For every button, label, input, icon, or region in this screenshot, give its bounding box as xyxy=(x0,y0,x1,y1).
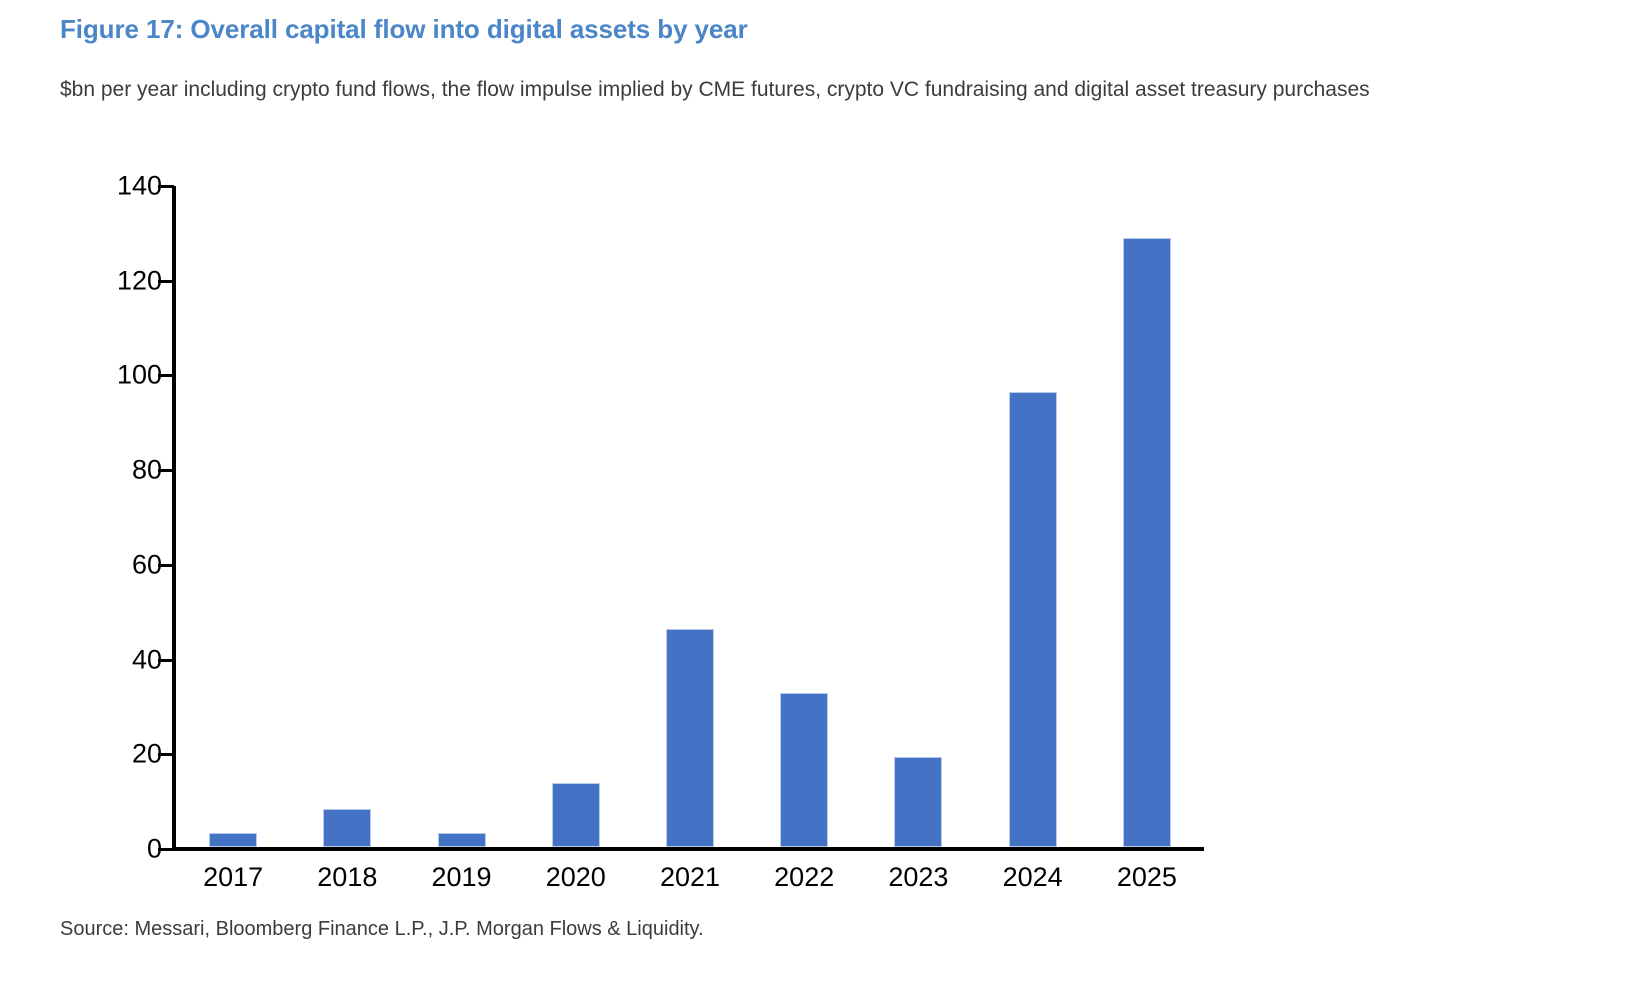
bar-chart: 020406080100120140 201720182019202020212… xyxy=(0,0,1644,994)
bar-slot xyxy=(519,186,633,847)
x-axis-labels: 201720182019202020212022202320242025 xyxy=(176,862,1204,893)
bar-slot xyxy=(404,186,518,847)
bar-slot xyxy=(290,186,404,847)
bar-2017[interactable] xyxy=(209,833,257,847)
bar-slot xyxy=(747,186,861,847)
bar-2018[interactable] xyxy=(323,809,371,847)
x-axis-label-2017: 2017 xyxy=(176,862,290,893)
bar-slot xyxy=(176,186,290,847)
y-axis-tick-label: 0 xyxy=(72,836,162,863)
y-axis-tick-label: 60 xyxy=(72,551,162,578)
x-axis-label-2022: 2022 xyxy=(747,862,861,893)
bar-series xyxy=(176,186,1204,847)
y-axis-tick-label: 140 xyxy=(72,173,162,200)
bar-slot xyxy=(633,186,747,847)
bar-2021[interactable] xyxy=(666,629,714,847)
y-axis-tick-label: 80 xyxy=(72,457,162,484)
figure-page: Figure 17: Overall capital flow into dig… xyxy=(0,0,1644,994)
x-axis-label-2024: 2024 xyxy=(976,862,1090,893)
x-axis-label-2021: 2021 xyxy=(633,862,747,893)
source-note: Source: Messari, Bloomberg Finance L.P.,… xyxy=(60,918,704,941)
bar-2019[interactable] xyxy=(438,833,486,847)
x-axis-label-2020: 2020 xyxy=(519,862,633,893)
bar-slot xyxy=(1090,186,1204,847)
x-axis-label-2018: 2018 xyxy=(290,862,404,893)
bar-slot xyxy=(976,186,1090,847)
bar-2024[interactable] xyxy=(1009,392,1057,847)
y-axis-tick-label: 120 xyxy=(72,267,162,294)
x-axis-label-2019: 2019 xyxy=(404,862,518,893)
y-axis-tick-label: 100 xyxy=(72,362,162,389)
y-axis-tick-label: 20 xyxy=(72,741,162,768)
x-axis-label-2025: 2025 xyxy=(1090,862,1204,893)
bar-slot xyxy=(861,186,975,847)
y-axis-tick-label: 40 xyxy=(72,646,162,673)
x-axis-label-2023: 2023 xyxy=(861,862,975,893)
bar-2022[interactable] xyxy=(780,693,828,847)
x-axis-line xyxy=(172,847,1204,851)
bar-2023[interactable] xyxy=(894,757,942,847)
bar-2020[interactable] xyxy=(552,783,600,847)
bar-2025[interactable] xyxy=(1123,238,1171,847)
